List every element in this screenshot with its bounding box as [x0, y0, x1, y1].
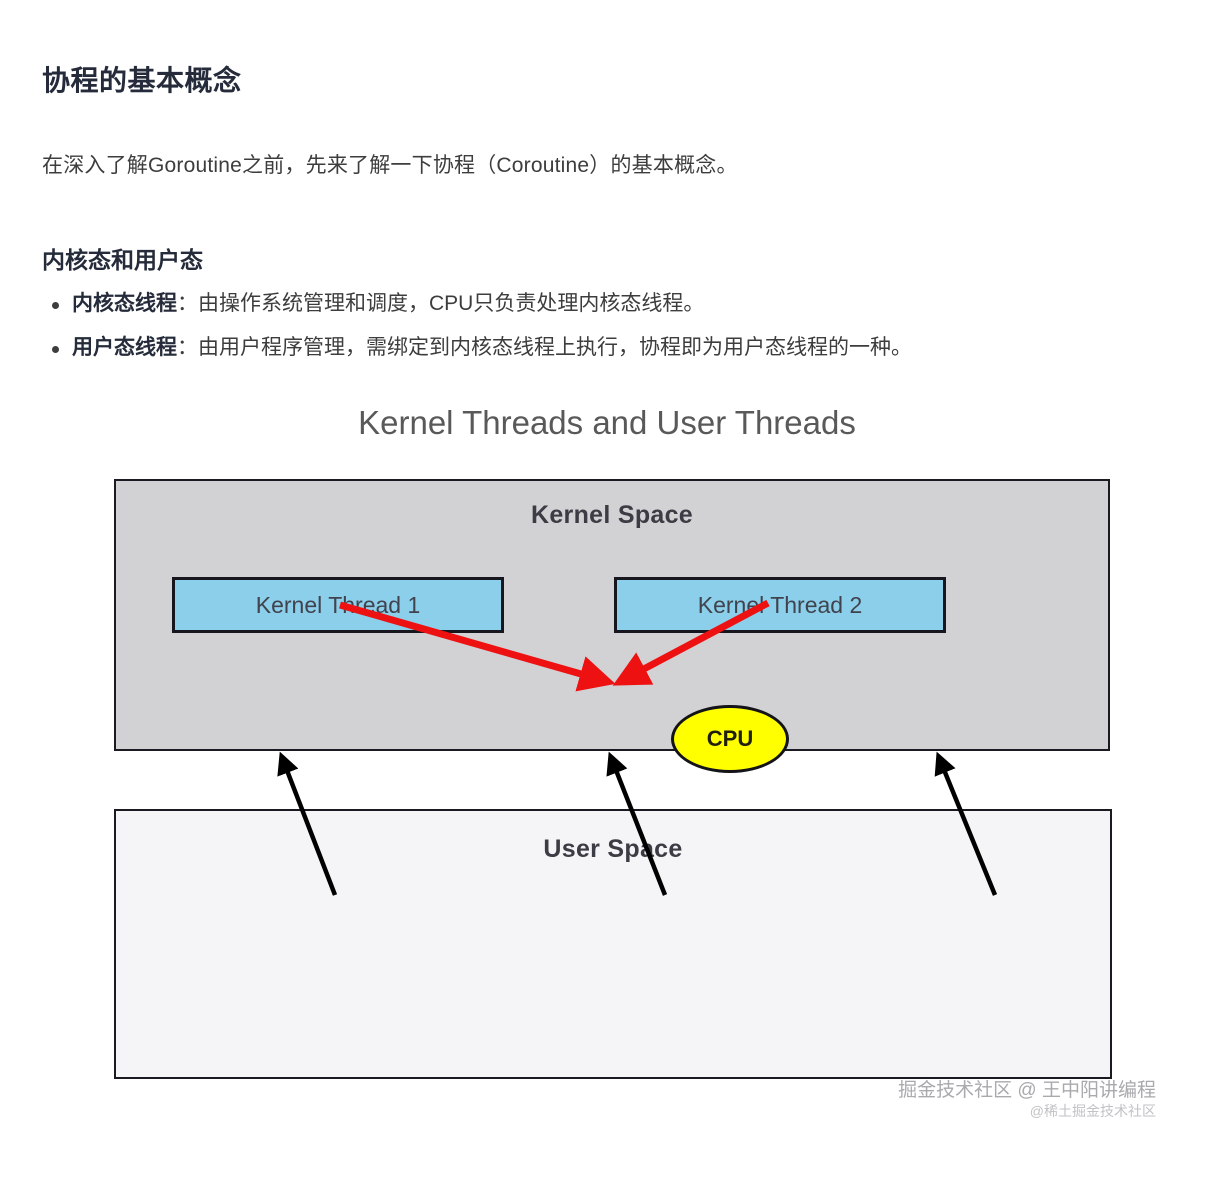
watermark-sub-text: @稀土掘金技术社区: [898, 1103, 1156, 1121]
list-item: 内核态线程：由操作系统管理和调度，CPU只负责处理内核态线程。: [42, 282, 1162, 326]
bullet-term: 内核态线程: [72, 292, 177, 315]
kernel-thread-1-box: Kernel Thread 1: [172, 577, 504, 633]
section-heading: 内核态和用户态: [42, 241, 203, 275]
watermark: 掘金技术社区 @ 王中阳讲编程 @稀土掘金技术社区: [898, 1079, 1156, 1120]
kernel-space-label: Kernel Space: [116, 501, 1108, 530]
kernel-thread-2-label: Kernel Thread 2: [698, 592, 863, 619]
kernel-space-box: Kernel Space Kernel Thread 1 Kernel Thre…: [114, 479, 1110, 751]
cpu-label: CPU: [707, 726, 753, 752]
page-title: 协程的基本概念: [42, 59, 242, 99]
user-space-label: User Space: [116, 835, 1110, 864]
threads-diagram: Kernel Threads and User Threads Kernel S…: [0, 390, 1214, 1110]
concept-bullet-list: 内核态线程：由操作系统管理和调度，CPU只负责处理内核态线程。 用户态线程：由用…: [42, 282, 1162, 370]
intro-paragraph: 在深入了解Goroutine之前，先来了解一下协程（Coroutine）的基本概…: [42, 149, 738, 179]
bullet-term: 用户态线程: [72, 336, 177, 359]
diagram-title: Kernel Threads and User Threads: [0, 404, 1214, 442]
watermark-main-text: 掘金技术社区 @ 王中阳讲编程: [898, 1079, 1156, 1103]
page-root: 协程的基本概念 在深入了解Goroutine之前，先来了解一下协程（Corout…: [0, 0, 1214, 1177]
cpu-node: CPU: [671, 705, 789, 773]
bullet-separator: ：: [177, 336, 198, 359]
user-space-box: User Space User Thread 1 User Thread 2 U…: [114, 809, 1112, 1079]
kernel-thread-2-box: Kernel Thread 2: [614, 577, 946, 633]
list-item: 用户态线程：由用户程序管理，需绑定到内核态线程上执行，协程即为用户态线程的一种。: [42, 326, 1162, 370]
bullet-text: 由用户程序管理，需绑定到内核态线程上执行，协程即为用户态线程的一种。: [198, 336, 912, 359]
kernel-thread-1-label: Kernel Thread 1: [256, 592, 421, 619]
bullet-separator: ：: [177, 292, 198, 315]
bullet-text: 由操作系统管理和调度，CPU只负责处理内核态线程。: [198, 292, 704, 315]
